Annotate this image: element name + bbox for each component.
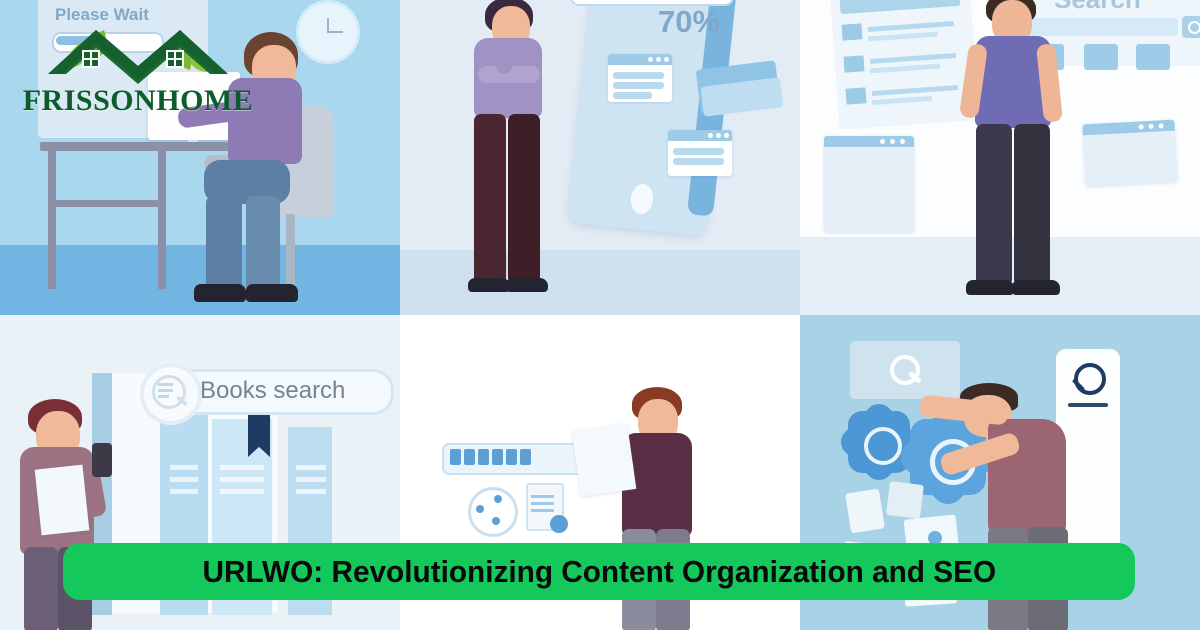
window-dot — [1149, 124, 1154, 129]
shoe-left — [966, 280, 1014, 295]
house-roof-with-leaves-icon — [18, 22, 258, 92]
window-dot — [656, 57, 661, 62]
window-dot — [1139, 124, 1144, 129]
browser-window-icon — [824, 136, 914, 232]
panel-divider — [1068, 403, 1108, 407]
desk-leg-left — [48, 151, 56, 289]
clock-hand-hour — [327, 18, 329, 32]
desk-crossbar — [48, 200, 166, 207]
paper-sheet — [572, 423, 637, 496]
leg-left — [976, 124, 1012, 284]
search-input[interactable] — [1028, 18, 1178, 36]
loading-segment — [520, 449, 531, 465]
book-line — [296, 465, 326, 470]
title-banner: URLWO: Revolutionizing Content Organizat… — [63, 543, 1135, 600]
window-dot — [890, 139, 895, 144]
floor-band — [0, 245, 400, 315]
book-line — [296, 477, 326, 482]
window-dot — [664, 57, 669, 62]
gear-hub — [864, 427, 902, 465]
brand-wordmark: FRISSONHOME — [18, 84, 258, 118]
content-line — [613, 72, 664, 79]
window-dot — [1158, 123, 1163, 128]
content-line — [673, 148, 724, 155]
banner-title: URLWO: Revolutionizing Content Organizat… — [202, 554, 996, 590]
leg-left — [24, 547, 58, 630]
browser-window-icon — [1082, 120, 1177, 187]
result-thumb — [843, 55, 864, 72]
content-line — [613, 82, 664, 89]
loading-segment — [478, 449, 489, 465]
window-dot — [880, 139, 885, 144]
book-line — [170, 477, 198, 482]
leg-right — [508, 114, 540, 282]
magnifier-lens — [1074, 363, 1106, 395]
loading-segment — [506, 449, 517, 465]
doc-line — [531, 502, 554, 505]
office-chair-post — [286, 214, 295, 288]
shoe-right — [246, 284, 298, 302]
book-line — [220, 465, 264, 470]
leg-right — [1014, 124, 1050, 284]
window-dot — [900, 139, 905, 144]
window-titlebar — [608, 54, 672, 65]
shoe-right — [1012, 280, 1060, 295]
result-thumb — [845, 87, 866, 104]
loading-segment — [492, 449, 503, 465]
panel-search-results: Search — [800, 0, 1200, 315]
window-titlebar — [668, 130, 732, 141]
leg-left — [474, 114, 506, 282]
share-node — [476, 505, 484, 513]
document-tile-icon — [886, 481, 924, 519]
magnifier-glyph — [1188, 21, 1200, 34]
tile — [1084, 44, 1118, 70]
share-node — [492, 517, 500, 525]
result-thumb — [841, 23, 862, 40]
window-titlebar — [824, 136, 914, 147]
desk-leg-right — [158, 151, 166, 289]
shoe-right — [506, 278, 548, 292]
loading-segment — [450, 449, 461, 465]
books-search-placeholder: Books search — [200, 377, 345, 405]
browser-window-icon — [668, 130, 732, 176]
book-line — [220, 489, 264, 494]
book-line — [170, 465, 198, 470]
window-dot — [648, 57, 653, 62]
book-line — [296, 489, 326, 494]
window-titlebar — [1082, 120, 1174, 136]
book-line — [220, 477, 264, 482]
share-icon — [468, 487, 518, 537]
browser-window-icon — [608, 54, 672, 102]
leg-lower-2 — [246, 196, 280, 292]
shoe-left — [468, 278, 510, 292]
tile — [1136, 44, 1170, 70]
doc-line — [158, 395, 169, 398]
content-line — [613, 92, 651, 99]
magnifier-lens — [152, 375, 186, 409]
download-arrow-icon — [550, 515, 568, 533]
document-tile-icon — [845, 489, 885, 534]
percent-label: 70% — [658, 4, 720, 40]
search-label: Search — [1054, 0, 1141, 15]
paper-sheet — [35, 465, 90, 536]
floor-band — [400, 250, 800, 315]
window-dot — [716, 133, 721, 138]
doc-line — [158, 389, 173, 392]
doc-line — [158, 383, 173, 386]
doc-line — [531, 509, 554, 512]
brand-logo[interactable]: FRISSONHOME — [18, 22, 258, 122]
window-dot — [708, 133, 713, 138]
feature-image: Please Wait — [0, 0, 1200, 630]
book-line — [170, 489, 198, 494]
leg-lower — [206, 196, 242, 292]
smartphone-icon — [92, 443, 112, 477]
share-node — [494, 495, 502, 503]
window-dot — [724, 133, 729, 138]
loading-segment — [464, 449, 475, 465]
content-line — [673, 158, 724, 165]
shoe-left — [194, 284, 246, 302]
clock-hand-minute — [327, 31, 343, 33]
desk-top — [40, 142, 250, 151]
panel-mobile-loading-70: 70% — [400, 0, 800, 315]
doc-line — [531, 495, 554, 498]
